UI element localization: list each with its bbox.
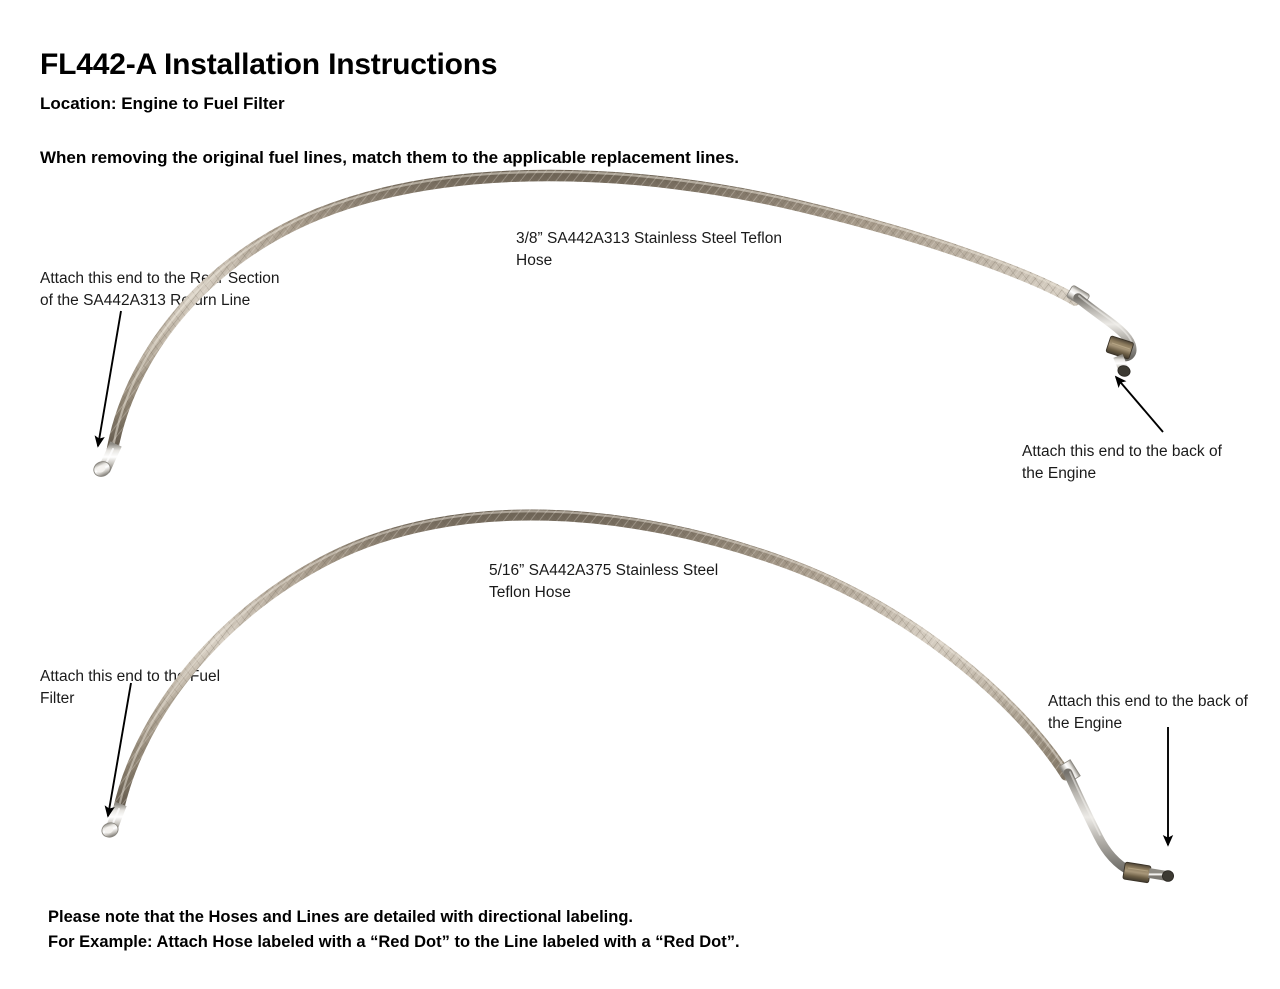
upper-right-annotation-arrow bbox=[1116, 377, 1163, 432]
upper-hose-left-fitting bbox=[91, 444, 116, 479]
upper-left-annotation-arrow bbox=[98, 311, 121, 446]
location-subtitle: Location: Engine to Fuel Filter bbox=[40, 94, 285, 114]
lower-hose-left-annotation: Attach this end to the Fuel Filter bbox=[40, 666, 220, 710]
page-title: FL442-A Installation Instructions bbox=[40, 48, 497, 82]
lower-hose-ferrule bbox=[1059, 760, 1080, 783]
installation-instruction-page: FL442-A Installation Instructions Locati… bbox=[0, 0, 1280, 989]
footer-note-line-2: For Example: Attach Hose labeled with a … bbox=[48, 929, 740, 955]
upper-hose-right-fitting bbox=[1106, 336, 1134, 378]
lower-hose-right-annotation: Attach this end to the back of the Engin… bbox=[1048, 691, 1248, 735]
upper-hose-assembly bbox=[91, 172, 1163, 479]
upper-hose-left-annotation: Attach this end to the Rear Section of t… bbox=[40, 268, 280, 312]
upper-hose-label: 3/8” SA442A313 Stainless Steel Teflon Ho… bbox=[516, 228, 782, 272]
upper-hose-right-annotation: Attach this end to the back of the Engin… bbox=[1022, 441, 1222, 485]
upper-hose-steel-tube bbox=[1078, 296, 1132, 357]
lower-hose-label: 5/16” SA442A375 Stainless Steel Teflon H… bbox=[489, 560, 718, 604]
matching-instruction: When removing the original fuel lines, m… bbox=[40, 148, 739, 168]
lower-hose-braid bbox=[118, 511, 1067, 812]
footer-note-line-1: Please note that the Hoses and Lines are… bbox=[48, 904, 633, 930]
lower-hose-left-fitting bbox=[100, 804, 121, 839]
lower-hose-steel-tube bbox=[1068, 772, 1130, 871]
lower-hose-right-fitting bbox=[1123, 862, 1174, 883]
upper-hose-ferrule bbox=[1066, 285, 1090, 307]
